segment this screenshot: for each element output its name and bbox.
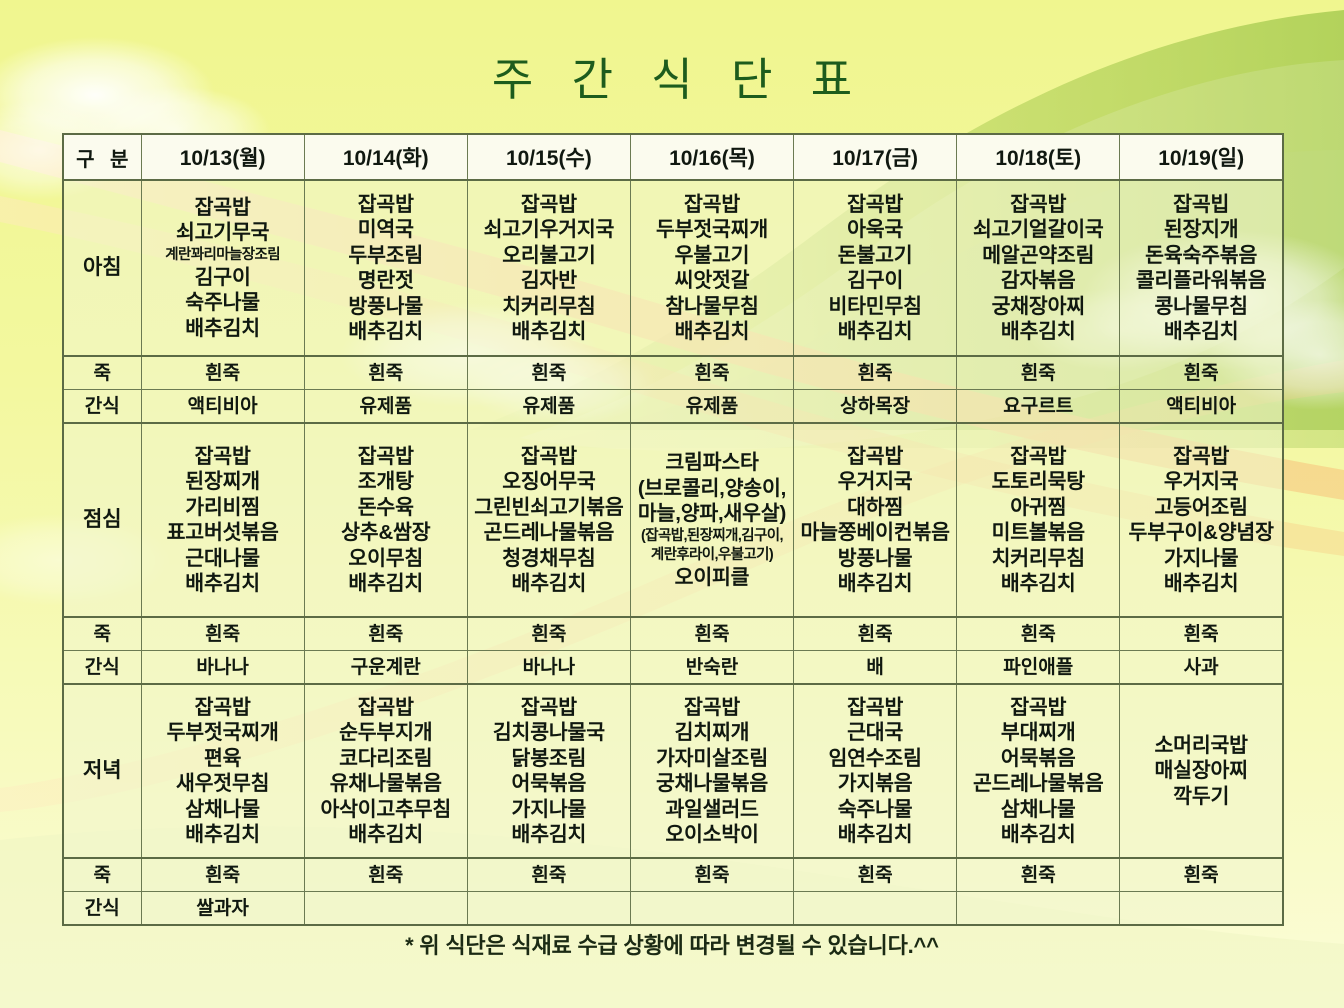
menu-item: 크림파스타 (633, 450, 791, 476)
menu-item: 오이무침 (307, 546, 465, 572)
menu-item: 콜리플라워볶음 (1122, 268, 1280, 294)
porridge1-cell-wed: 흰죽 (467, 356, 630, 390)
menu-item: 돈불고기 (796, 243, 954, 269)
header-day-mon: 10/13(월) (141, 134, 304, 180)
menu-item: 궁채나물볶음 (633, 771, 791, 797)
menu-item: 우거지국 (1122, 469, 1280, 495)
porridge-row-3: 죽 흰죽 흰죽 흰죽 흰죽 흰죽 흰죽 흰죽 (63, 858, 1283, 892)
breakfast-cell-sun: 잡곡빕된장지개돈육숙주볶음콜리플라워볶음콩나물무침배추김치 (1120, 180, 1283, 356)
menu-item: 쇠고기얼갈이국 (959, 217, 1117, 243)
menu-item: 김구이 (144, 265, 302, 291)
menu-item: 씨앗젓갈 (633, 268, 791, 294)
porridge3-cell-mon: 흰죽 (141, 858, 304, 892)
menu-item: 어묵볶음 (959, 746, 1117, 772)
row-label-breakfast: 아침 (63, 180, 141, 356)
porridge3-cell-sat: 흰죽 (957, 858, 1120, 892)
menu-item: 배추김치 (307, 822, 465, 848)
menu-item: 잡곡밥 (470, 192, 628, 218)
menu-item: 방풍나물 (796, 546, 954, 572)
menu-item: 고등어조림 (1122, 495, 1280, 521)
lunch-cell-sat: 잡곡밥도토리묵탕아귀찜미트볼볶음치커리무침배추김치 (957, 423, 1120, 617)
menu-item: 잡곡밥 (307, 444, 465, 470)
menu-item: 배추김치 (470, 571, 628, 597)
menu-item: 미트볼볶음 (959, 520, 1117, 546)
menu-item: (잡곡밥,된장찌개,김구이, (633, 527, 791, 546)
snack1-cell-wed: 유제품 (467, 390, 630, 424)
lunch-row: 점심 잡곡밥된장찌개가리비찜표고버섯볶음근대나물배추김치 잡곡밥조개탕돈수육상추… (63, 423, 1283, 617)
menu-item: 가지나물 (1122, 546, 1280, 572)
menu-item: 아삭이고추무침 (307, 797, 465, 823)
menu-item: 배추김치 (307, 571, 465, 597)
menu-item: 배추김치 (633, 319, 791, 345)
menu-item: 배추김치 (1122, 319, 1280, 345)
menu-item: 편육 (144, 746, 302, 772)
breakfast-row: 아침 잡곡밥쇠고기무국계란꽈리마늘장조림김구이숙주나물배추김치 잡곡밥미역국두부… (63, 180, 1283, 356)
snack2-cell-sun: 사과 (1120, 651, 1283, 685)
menu-item: 그린빈쇠고기볶음 (470, 495, 628, 521)
menu-item: 배추김치 (470, 822, 628, 848)
row-label-porridge-3: 죽 (63, 858, 141, 892)
menu-item: 순두부지개 (307, 720, 465, 746)
page-title: 주 간 식 단 표 (0, 52, 1344, 108)
porridge3-cell-fri: 흰죽 (794, 858, 957, 892)
menu-item: 가지볶음 (796, 771, 954, 797)
snack2-cell-thu: 반숙란 (630, 651, 793, 685)
porridge2-cell-tue: 흰죽 (304, 617, 467, 651)
porridge-row-2: 죽 흰죽 흰죽 흰죽 흰죽 흰죽 흰죽 흰죽 (63, 617, 1283, 651)
footer-note: * 위 식단은 식재료 수급 상황에 따라 변경될 수 있습니다.^^ (0, 928, 1344, 960)
breakfast-cell-tue: 잡곡밥미역국두부조림명란젓방풍나물배추김치 (304, 180, 467, 356)
snack1-cell-thu: 유제품 (630, 390, 793, 424)
snack3-cell-sat (957, 892, 1120, 926)
porridge3-cell-tue: 흰죽 (304, 858, 467, 892)
lunch-cell-mon: 잡곡밥된장찌개가리비찜표고버섯볶음근대나물배추김치 (141, 423, 304, 617)
menu-item: 돈수육 (307, 495, 465, 521)
menu-item: 궁채장아찌 (959, 294, 1117, 320)
lunch-cell-thu: 크림파스타(브로콜리,양송이,마늘,양파,새우살)(잡곡밥,된장찌개,김구이,계… (630, 423, 793, 617)
menu-item: 잡곡밥 (959, 695, 1117, 721)
menu-item: 청경채무침 (470, 546, 628, 572)
porridge-row-1: 죽 흰죽 흰죽 흰죽 흰죽 흰죽 흰죽 흰죽 (63, 356, 1283, 390)
snack2-cell-wed: 바나나 (467, 651, 630, 685)
lunch-cell-tue: 잡곡밥조개탕돈수육상추&쌈장오이무침배추김치 (304, 423, 467, 617)
snack1-cell-fri: 상하목장 (794, 390, 957, 424)
menu-item: 콩나물무침 (1122, 294, 1280, 320)
menu-item: 새우젓무침 (144, 771, 302, 797)
dinner-cell-wed: 잡곡밥김치콩나물국닭봉조림어묵볶음가지나물배추김치 (467, 684, 630, 858)
breakfast-cell-wed: 잡곡밥쇠고기우거지국오리불고기김자반치커리무침배추김치 (467, 180, 630, 356)
menu-item: 잡곡밥 (307, 192, 465, 218)
menu-item: 가리비찜 (144, 495, 302, 521)
menu-item: 가지나물 (470, 797, 628, 823)
dinner-cell-mon: 잡곡밥두부젓국찌개편육새우젓무침삼채나물배추김치 (141, 684, 304, 858)
menu-item: 숙주나물 (144, 290, 302, 316)
menu-item: 돈육숙주볶음 (1122, 243, 1280, 269)
menu-item: 명란젓 (307, 268, 465, 294)
menu-item: 곤드레나물볶음 (959, 771, 1117, 797)
menu-item: 치커리무침 (470, 294, 628, 320)
snack1-cell-tue: 유제품 (304, 390, 467, 424)
snack3-cell-fri (794, 892, 957, 926)
porridge1-cell-tue: 흰죽 (304, 356, 467, 390)
menu-item: 삼채나물 (144, 797, 302, 823)
menu-item: 배추김치 (1122, 571, 1280, 597)
row-label-snack-1: 간식 (63, 390, 141, 424)
menu-item: 조개탕 (307, 469, 465, 495)
menu-item: 두부조림 (307, 243, 465, 269)
snack1-cell-sat: 요구르트 (957, 390, 1120, 424)
menu-item: 근대나물 (144, 546, 302, 572)
menu-item: 어묵볶음 (470, 771, 628, 797)
menu-item: 배추김치 (959, 319, 1117, 345)
porridge3-cell-thu: 흰죽 (630, 858, 793, 892)
header-day-thu: 10/16(목) (630, 134, 793, 180)
menu-item: 곤드레나물볶음 (470, 520, 628, 546)
menu-item: 김치찌개 (633, 720, 791, 746)
menu-item: 오이소박이 (633, 822, 791, 848)
porridge2-cell-wed: 흰죽 (467, 617, 630, 651)
menu-item: 잡곡밥 (796, 695, 954, 721)
menu-item: 계란후라이,우불고기) (633, 546, 791, 565)
menu-item: 마늘,양파,새우살) (633, 501, 791, 527)
menu-item: 배추김치 (959, 822, 1117, 848)
row-label-porridge-1: 죽 (63, 356, 141, 390)
porridge1-cell-mon: 흰죽 (141, 356, 304, 390)
header-day-sat: 10/18(토) (957, 134, 1120, 180)
menu-item: 두부젓국찌개 (144, 720, 302, 746)
header-day-sun: 10/19(일) (1120, 134, 1283, 180)
menu-item: 배추김치 (144, 822, 302, 848)
snack1-cell-sun: 액티비아 (1120, 390, 1283, 424)
porridge2-cell-sat: 흰죽 (957, 617, 1120, 651)
menu-item: 비타민무침 (796, 294, 954, 320)
menu-item: 가자미살조림 (633, 746, 791, 772)
dinner-cell-sun: 소머리국밥매실장아찌깍두기 (1120, 684, 1283, 858)
menu-item: 잡곡밥 (633, 695, 791, 721)
menu-item: 아귀찜 (959, 495, 1117, 521)
menu-item: 배추김치 (144, 316, 302, 342)
snack2-cell-tue: 구운계란 (304, 651, 467, 685)
menu-item: 쇠고기무국 (144, 220, 302, 246)
menu-item: 잡곡밥 (1122, 444, 1280, 470)
menu-item: 삼채나물 (959, 797, 1117, 823)
header-day-wed: 10/15(수) (467, 134, 630, 180)
dinner-cell-sat: 잡곡밥부대찌개어묵볶음곤드레나물볶음삼채나물배추김치 (957, 684, 1120, 858)
menu-item: 잡곡밥 (959, 444, 1117, 470)
breakfast-cell-sat: 잡곡밥쇠고기얼갈이국메알곤약조림감자볶음궁채장아찌배추김치 (957, 180, 1120, 356)
header-day-fri: 10/17(금) (794, 134, 957, 180)
menu-item: 임연수조림 (796, 746, 954, 772)
dinner-cell-tue: 잡곡밥순두부지개코다리조림유채나물볶음아삭이고추무침배추김치 (304, 684, 467, 858)
menu-item: 잡곡밥 (470, 695, 628, 721)
menu-item: (브로콜리,양송이, (633, 476, 791, 502)
menu-item: 표고버섯볶음 (144, 520, 302, 546)
menu-item: 잡곡밥 (633, 192, 791, 218)
menu-item: 배추김치 (470, 319, 628, 345)
menu-item: 방풍나물 (307, 294, 465, 320)
menu-item: 두부구이&양념장 (1122, 520, 1280, 546)
menu-item: 된장지개 (1122, 217, 1280, 243)
menu-item: 오징어무국 (470, 469, 628, 495)
porridge2-cell-sun: 흰죽 (1120, 617, 1283, 651)
menu-item: 된장찌개 (144, 469, 302, 495)
menu-item: 매실장아찌 (1122, 758, 1280, 784)
snack-row-2: 간식 바나나 구운계란 바나나 반숙란 배 파인애플 사과 (63, 651, 1283, 685)
menu-item: 코다리조림 (307, 746, 465, 772)
menu-item: 잡곡밥 (144, 195, 302, 221)
porridge1-cell-sun: 흰죽 (1120, 356, 1283, 390)
porridge1-cell-thu: 흰죽 (630, 356, 793, 390)
row-label-snack-3: 간식 (63, 892, 141, 926)
snack-row-1: 간식 액티비아 유제품 유제품 유제품 상하목장 요구르트 액티비아 (63, 390, 1283, 424)
menu-item: 잡곡밥 (796, 192, 954, 218)
header-day-tue: 10/14(화) (304, 134, 467, 180)
porridge1-cell-sat: 흰죽 (957, 356, 1120, 390)
dinner-cell-thu: 잡곡밥김치찌개가자미살조림궁채나물볶음과일샐러드오이소박이 (630, 684, 793, 858)
menu-item: 잡곡밥 (144, 444, 302, 470)
row-label-snack-2: 간식 (63, 651, 141, 685)
porridge2-cell-thu: 흰죽 (630, 617, 793, 651)
menu-item: 유채나물볶음 (307, 771, 465, 797)
menu-item: 오이피클 (633, 565, 791, 591)
menu-item: 치커리무침 (959, 546, 1117, 572)
menu-item: 미역국 (307, 217, 465, 243)
menu-item: 잡곡밥 (796, 444, 954, 470)
snack3-cell-mon: 쌀과자 (141, 892, 304, 926)
weekly-menu-table-container: 구 분 10/13(월) 10/14(화) 10/15(수) 10/16(목) … (62, 133, 1284, 926)
porridge3-cell-sun: 흰죽 (1120, 858, 1283, 892)
header-label-division: 구 분 (63, 134, 141, 180)
row-label-lunch: 점심 (63, 423, 141, 617)
menu-item: 오리불고기 (470, 243, 628, 269)
menu-item: 아욱국 (796, 217, 954, 243)
table-header-row: 구 분 10/13(월) 10/14(화) 10/15(수) 10/16(목) … (63, 134, 1283, 180)
menu-item: 배추김치 (796, 319, 954, 345)
row-label-porridge-2: 죽 (63, 617, 141, 651)
menu-item: 소머리국밥 (1122, 733, 1280, 759)
snack2-cell-fri: 배 (794, 651, 957, 685)
menu-item: 대하찜 (796, 495, 954, 521)
snack1-cell-mon: 액티비아 (141, 390, 304, 424)
breakfast-cell-mon: 잡곡밥쇠고기무국계란꽈리마늘장조림김구이숙주나물배추김치 (141, 180, 304, 356)
snack-row-3: 간식 쌀과자 (63, 892, 1283, 926)
lunch-cell-sun: 잡곡밥우거지국고등어조림두부구이&양념장가지나물배추김치 (1120, 423, 1283, 617)
menu-item: 잡곡밥 (144, 695, 302, 721)
menu-item: 배추김치 (796, 571, 954, 597)
menu-item: 마늘쫑베이컨볶음 (796, 520, 954, 546)
porridge1-cell-fri: 흰죽 (794, 356, 957, 390)
breakfast-cell-thu: 잡곡밥두부젓국찌개우불고기씨앗젓갈참나물무침배추김치 (630, 180, 793, 356)
menu-item: 깍두기 (1122, 784, 1280, 810)
menu-item: 우불고기 (633, 243, 791, 269)
menu-item: 우거지국 (796, 469, 954, 495)
lunch-cell-wed: 잡곡밥오징어무국그린빈쇠고기볶음곤드레나물볶음청경채무침배추김치 (467, 423, 630, 617)
menu-item: 과일샐러드 (633, 797, 791, 823)
menu-item: 잡곡빕 (1122, 192, 1280, 218)
porridge3-cell-wed: 흰죽 (467, 858, 630, 892)
menu-item: 배추김치 (307, 319, 465, 345)
snack3-cell-thu (630, 892, 793, 926)
snack3-cell-sun (1120, 892, 1283, 926)
menu-item: 배추김치 (796, 822, 954, 848)
weekly-menu-table: 구 분 10/13(월) 10/14(화) 10/15(수) 10/16(목) … (62, 133, 1284, 926)
menu-item: 계란꽈리마늘장조림 (144, 246, 302, 265)
porridge2-cell-mon: 흰죽 (141, 617, 304, 651)
row-label-dinner: 저녁 (63, 684, 141, 858)
menu-item: 부대찌개 (959, 720, 1117, 746)
snack3-cell-tue (304, 892, 467, 926)
menu-item: 메알곤약조림 (959, 243, 1117, 269)
snack2-cell-mon: 바나나 (141, 651, 304, 685)
porridge2-cell-fri: 흰죽 (794, 617, 957, 651)
menu-item: 도토리묵탕 (959, 469, 1117, 495)
breakfast-cell-fri: 잡곡밥아욱국돈불고기김구이비타민무침배추김치 (794, 180, 957, 356)
menu-item: 숙주나물 (796, 797, 954, 823)
dinner-cell-fri: 잡곡밥근대국임연수조림가지볶음숙주나물배추김치 (794, 684, 957, 858)
lunch-cell-fri: 잡곡밥우거지국대하찜마늘쫑베이컨볶음방풍나물배추김치 (794, 423, 957, 617)
dinner-row: 저녁 잡곡밥두부젓국찌개편육새우젓무침삼채나물배추김치 잡곡밥순두부지개코다리조… (63, 684, 1283, 858)
menu-item: 김구이 (796, 268, 954, 294)
snack3-cell-wed (467, 892, 630, 926)
menu-item: 상추&쌈장 (307, 520, 465, 546)
menu-item: 근대국 (796, 720, 954, 746)
snack2-cell-sat: 파인애플 (957, 651, 1120, 685)
menu-item: 닭봉조림 (470, 746, 628, 772)
menu-item: 잡곡밥 (959, 192, 1117, 218)
slide-page: 주 간 식 단 표 구 분 10/13(월) 10/14(화) 10/15(수)… (0, 0, 1344, 1008)
menu-item: 배추김치 (144, 571, 302, 597)
menu-item: 김치콩나물국 (470, 720, 628, 746)
menu-item: 참나물무침 (633, 294, 791, 320)
menu-item: 감자볶음 (959, 268, 1117, 294)
menu-item: 배추김치 (959, 571, 1117, 597)
menu-item: 김자반 (470, 268, 628, 294)
menu-item: 잡곡밥 (307, 695, 465, 721)
menu-item: 잡곡밥 (470, 444, 628, 470)
menu-item: 두부젓국찌개 (633, 217, 791, 243)
menu-item: 쇠고기우거지국 (470, 217, 628, 243)
